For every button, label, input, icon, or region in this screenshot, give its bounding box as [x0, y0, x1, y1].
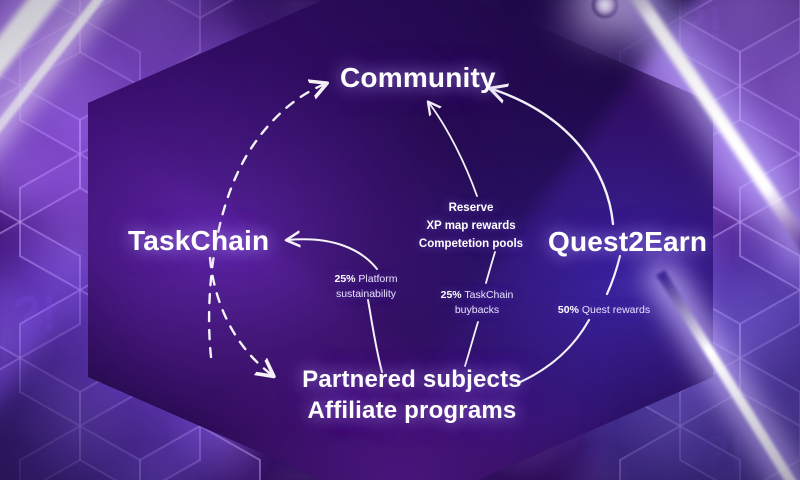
flow-label-line2: sustainability [316, 287, 416, 302]
flow-percent: 25% [441, 289, 462, 301]
connector-partnered-to-quest-lower [518, 320, 589, 383]
flow-label-taskchain-buybacks: 25% TaskChain buybacks [422, 288, 532, 318]
flow-label-line2: buybacks [422, 303, 532, 318]
connector-partnered-to-taskchain-upper [288, 239, 377, 269]
node-partnered-subjects[interactable]: Partnered subjects Affiliate programs [302, 365, 522, 426]
node-community[interactable]: Community [340, 62, 496, 94]
flow-text: Platform [356, 273, 398, 285]
node-partnered-line1: Partnered subjects [302, 365, 522, 396]
center-pool-xp-map-rewards: XP map rewards [402, 218, 540, 236]
node-taskchain[interactable]: TaskChain [128, 225, 269, 257]
flow-label-line1: 25% Platform [316, 272, 416, 287]
connector-partnered-to-pool-lower [465, 322, 478, 366]
flow-percent: 50% [558, 304, 579, 316]
flow-label-line1: 50% Quest rewards [540, 303, 668, 318]
connector-taskchain-to-partnered [210, 258, 272, 375]
center-pool-labels: Reserve XP map rewards Competetion pools [402, 200, 540, 253]
connector-partnered-to-taskchain-lower [368, 300, 382, 372]
node-partnered-line2: Affiliate programs [302, 396, 522, 427]
node-quest2earn[interactable]: Quest2Earn [548, 226, 707, 258]
flow-label-platform-sustainability: 25% Platform sustainability [316, 272, 416, 302]
center-pool-competition-pools: Competetion pools [402, 236, 540, 254]
connector-partnered-to-quest-upper [607, 256, 620, 294]
connector-pool-to-community [429, 103, 477, 196]
center-pool-reserve: Reserve [402, 200, 540, 218]
connector-taskchain-to-community [209, 84, 325, 357]
flow-text: Quest rewards [579, 304, 650, 316]
flow-label-line1: 25% TaskChain [422, 288, 532, 303]
infographic-canvas: ?! ?! ?! [0, 0, 800, 480]
connector-partnered-to-pool-upper [486, 252, 495, 283]
flow-percent: 25% [334, 273, 355, 285]
flow-label-quest-rewards: 50% Quest rewards [540, 303, 668, 318]
flow-text: TaskChain [462, 289, 514, 301]
